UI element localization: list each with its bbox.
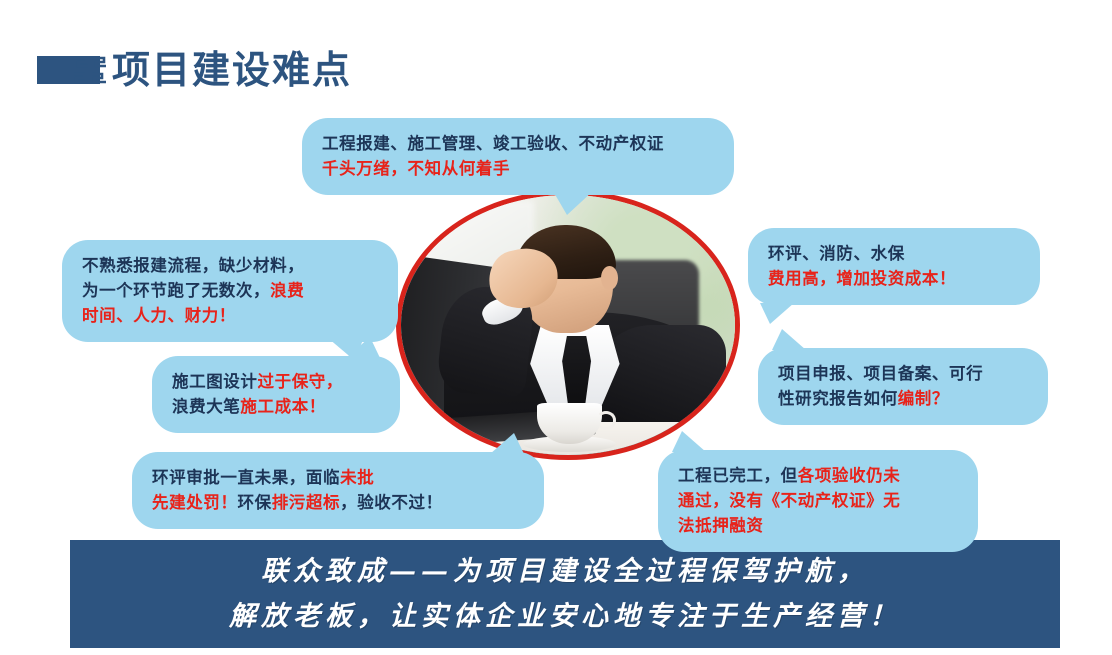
bubble-text-segment: 未批 xyxy=(340,468,374,487)
bubble-text-segment: 编制？ xyxy=(898,389,949,408)
bubble-line: 时间、人力、财力！ xyxy=(82,303,380,328)
bubble-line: 先建处罚！环保排污超标，验收不过！ xyxy=(152,490,526,515)
bubble-text-segment: 施工成本！ xyxy=(240,397,326,416)
bubble-line: 法抵押融资 xyxy=(678,513,960,538)
bubble-line: 费用高，增加投资成本！ xyxy=(768,266,1022,291)
bubble-tail-icon xyxy=(760,303,794,324)
bubble-text-segment: 法抵押融资 xyxy=(678,516,764,535)
speech-bubble-left-upper: 不熟悉报建流程，缺少材料，为一个环节跑了无数次，浪费时间、人力、财力！ xyxy=(62,240,398,342)
bubble-line: 千头万绪，不知从何着手 xyxy=(322,156,716,181)
bubble-line: 不熟悉报建流程，缺少材料， xyxy=(82,253,380,278)
bubble-line: 为一个环节跑了无数次，浪费 xyxy=(82,278,380,303)
bubble-text-segment: 排污超标 xyxy=(272,493,340,512)
speech-bubble-left-middle: 施工图设计过于保守，浪费大笔施工成本！ xyxy=(152,356,400,433)
bubble-text-segment: 项目申报、项目备案、可行 xyxy=(778,364,983,383)
chinese-scroll-ornament-icon xyxy=(70,52,110,90)
speech-bubble-right-middle: 项目申报、项目备案、可行性研究报告如何编制？ xyxy=(758,348,1048,425)
bubble-tail-icon xyxy=(672,431,706,452)
bubble-line: 施工图设计过于保守， xyxy=(172,369,382,394)
bubble-line: 通过，没有《不动产权证》无 xyxy=(678,488,960,513)
bubble-line: 性研究报告如何编制？ xyxy=(778,386,1030,411)
speech-bubble-right-lower: 工程已完工，但各项验收仍未通过，没有《不动产权证》无法抵押融资 xyxy=(658,450,978,552)
bubble-text-segment: 性研究报告如何 xyxy=(778,389,898,408)
bubble-line: 工程已完工，但各项验收仍未 xyxy=(678,463,960,488)
bubble-text-segment: 为一个环节跑了无数次， xyxy=(82,281,270,300)
footer-line-1: 联众致成——为项目建设全过程保驾护航， xyxy=(261,549,869,594)
page-title: 项目建设难点 xyxy=(112,42,352,98)
bubble-tail-icon xyxy=(490,433,524,454)
footer-line-2: 解放老板，让实体企业安心地专注于生产经营！ xyxy=(229,594,901,639)
bubble-line: 环评、消防、水保 xyxy=(768,241,1022,266)
center-photo xyxy=(396,190,740,460)
bubble-text-segment: 工程已完工，但 xyxy=(678,466,798,485)
poster-root: 项目建设难点 工程报建、施工管理、竣工验收、不动产权证千头万绪，不 xyxy=(0,0,1112,655)
bubble-text-segment: 浪费 xyxy=(270,281,304,300)
bubble-text-segment: 千头万绪，不知从何着手 xyxy=(322,159,510,178)
speech-bubble-right-upper: 环评、消防、水保费用高，增加投资成本！ xyxy=(748,228,1040,305)
bubble-text-segment: 时间、人力、财力！ xyxy=(82,306,236,325)
bubble-text-segment: 通过，没有《不动产权证》无 xyxy=(678,491,900,510)
bubble-text-segment: 不熟悉报建流程，缺少材料， xyxy=(82,256,304,275)
bubble-text-segment: 浪费大笔 xyxy=(172,397,240,416)
bubble-text-segment: 环评审批一直未果，面临 xyxy=(152,468,340,487)
bubble-line: 浪费大笔施工成本！ xyxy=(172,394,382,419)
speech-bubble-left-lower: 环评审批一直未果，面临未批先建处罚！环保排污超标，验收不过！ xyxy=(132,452,544,529)
bubble-text-segment: 费用高，增加投资成本！ xyxy=(768,269,956,288)
bubble-tail-icon xyxy=(346,337,380,358)
bubble-text-segment: ，验收不过！ xyxy=(340,493,443,512)
center-photo-image xyxy=(396,190,740,460)
bubble-text-segment: 工程报建、施工管理、竣工验收、不动产权证 xyxy=(322,134,664,153)
footer-banner: 联众致成——为项目建设全过程保驾护航， 解放老板，让实体企业安心地专注于生产经营… xyxy=(70,540,1060,648)
bubble-text-segment: 过于保守， xyxy=(258,372,344,391)
bubble-text-segment: 环评、消防、水保 xyxy=(768,244,905,263)
page-header: 项目建设难点 xyxy=(0,40,1112,102)
bubble-line: 项目申报、项目备案、可行 xyxy=(778,361,1030,386)
bubble-tail-icon xyxy=(553,191,593,215)
bubble-text-segment: 先建处罚！ xyxy=(152,493,238,512)
speech-bubble-top: 工程报建、施工管理、竣工验收、不动产权证千头万绪，不知从何着手 xyxy=(302,118,734,195)
bubble-line: 工程报建、施工管理、竣工验收、不动产权证 xyxy=(322,131,716,156)
bubble-text-segment: 施工图设计 xyxy=(172,372,258,391)
bubble-line: 环评审批一直未果，面临未批 xyxy=(152,465,526,490)
bubble-tail-icon xyxy=(772,329,806,350)
bubble-text-segment: 各项验收仍未 xyxy=(798,466,901,485)
bubble-text-segment: 环保 xyxy=(238,493,272,512)
